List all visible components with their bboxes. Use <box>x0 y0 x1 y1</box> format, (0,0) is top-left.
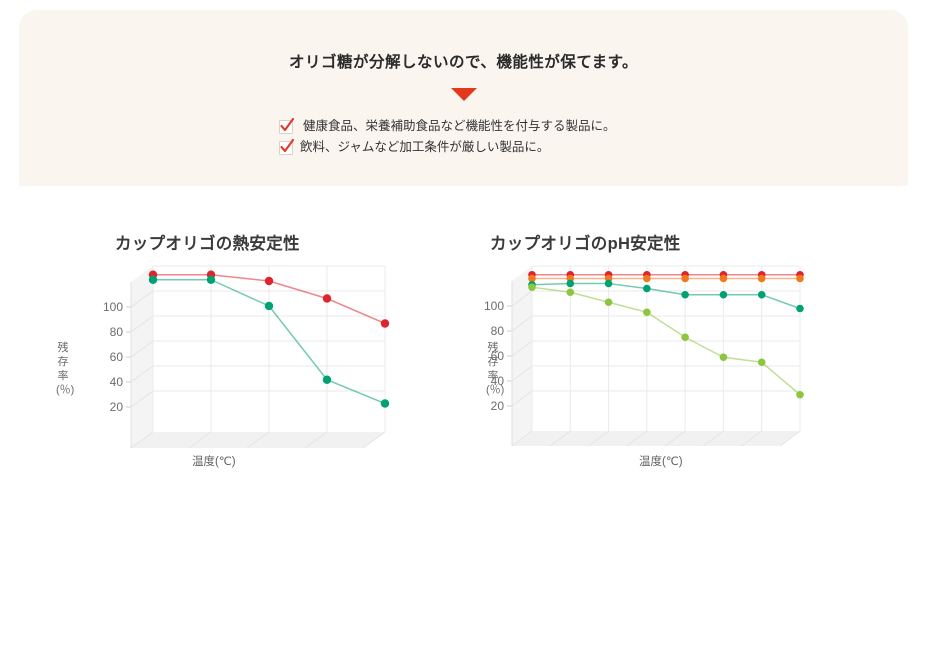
chart-data-point <box>643 275 651 283</box>
chart-data-point <box>265 302 273 310</box>
chart-data-point <box>720 291 728 299</box>
triangle-down-icon <box>451 88 477 101</box>
chart-data-point <box>265 277 273 285</box>
x-axis-tick-label: 100 <box>693 454 713 456</box>
list-item-label: 飲料、ジャムなど加工条件が厳しい製品に。 <box>300 137 549 158</box>
x-axis-tick-label: 60 <box>544 454 558 456</box>
chart-data-point <box>796 305 804 313</box>
chart-data-point <box>149 276 157 284</box>
chart-data-point <box>381 399 389 407</box>
plot-area: 2040608010010120140160180 <box>91 256 391 456</box>
x-axis-tick-label: 70 <box>582 454 596 456</box>
chart-data-point <box>605 298 613 306</box>
y-axis-tick-label: 100 <box>484 299 504 313</box>
y-axis-tick-label: 20 <box>491 399 505 413</box>
chart-data-point <box>566 288 574 296</box>
chart-data-point <box>207 276 215 284</box>
checkbox-checked-icon <box>279 120 293 134</box>
chart-data-point <box>381 319 389 327</box>
banner-title: オリゴ糖が分解しないので、機能性が保てます。 <box>19 50 908 72</box>
x-axis-tick-label: 110 <box>732 454 751 456</box>
chart-title: カップオリゴの熱安定性 <box>115 230 300 254</box>
x-axis-tick-label: 80 <box>620 454 634 456</box>
chart-data-point <box>643 308 651 316</box>
x-axis-tick-label: 120 <box>770 454 790 456</box>
checkbox-checked-icon <box>279 141 293 155</box>
list-item-label: 健康食品、栄養補助食品など機能性を付与する製品に。 <box>303 116 616 137</box>
chart-data-point <box>758 358 766 366</box>
chart-data-point <box>758 291 766 299</box>
banner-section: オリゴ糖が分解しないので、機能性が保てます。 健康食品、栄養補助食品など機能性を… <box>19 10 908 186</box>
benefit-list: 健康食品、栄養補助食品など機能性を付与する製品に。 飲料、ジャムなど加工条件が厳… <box>279 116 616 158</box>
chart-floor <box>512 431 800 446</box>
chart-title: カップオリゴのpH安定性 <box>490 230 681 254</box>
chart-data-point <box>566 280 574 288</box>
y-axis-tick-label: 80 <box>110 325 124 339</box>
chart-data-point <box>681 291 689 299</box>
y-axis-tick-label: 20 <box>110 400 124 414</box>
chart-data-point <box>323 376 331 384</box>
chart-data-point <box>643 285 651 293</box>
x-axis-tick-label: 90 <box>658 454 672 456</box>
chart-data-point <box>528 283 536 291</box>
y-axis-tick-label: 40 <box>110 375 124 389</box>
page-root: オリゴ糖が分解しないので、機能性が保てます。 健康食品、栄養補助食品など機能性を… <box>0 0 927 649</box>
y-axis-tick-label: 80 <box>491 324 505 338</box>
plot-area: 204060801002060708090100110120 <box>470 256 810 456</box>
chart-data-point <box>681 275 689 283</box>
list-item: 飲料、ジャムなど加工条件が厳しい製品に。 <box>279 137 616 158</box>
chart-data-point <box>758 275 766 283</box>
chart-data-point <box>720 353 728 361</box>
y-axis-tick-label: 40 <box>491 374 505 388</box>
x-axis-tick-label: 20 <box>505 454 519 456</box>
chart-data-point <box>720 275 728 283</box>
chart-data-point <box>796 391 804 399</box>
chart-data-point <box>681 333 689 341</box>
charts-section: カップオリゴの熱安定性 残存率(％) 温度(℃) 204060801001012… <box>19 186 908 632</box>
y-axis-tick-label: 60 <box>110 350 124 364</box>
content-card: オリゴ糖が分解しないので、機能性が保てます。 健康食品、栄養補助食品など機能性を… <box>19 10 908 632</box>
y-axis-title: 残存率(％) <box>56 341 70 397</box>
chart-data-point <box>323 294 331 302</box>
y-axis-tick-label: 100 <box>103 300 123 314</box>
chart-data-point <box>796 275 804 283</box>
chart-data-point <box>605 280 613 288</box>
chart-canvas: 2040608010010120140160180 <box>91 256 391 456</box>
y-axis-tick-label: 60 <box>491 349 505 363</box>
list-item: 健康食品、栄養補助食品など機能性を付与する製品に。 <box>279 116 616 137</box>
chart-canvas: 204060801002060708090100110120 <box>470 256 810 456</box>
